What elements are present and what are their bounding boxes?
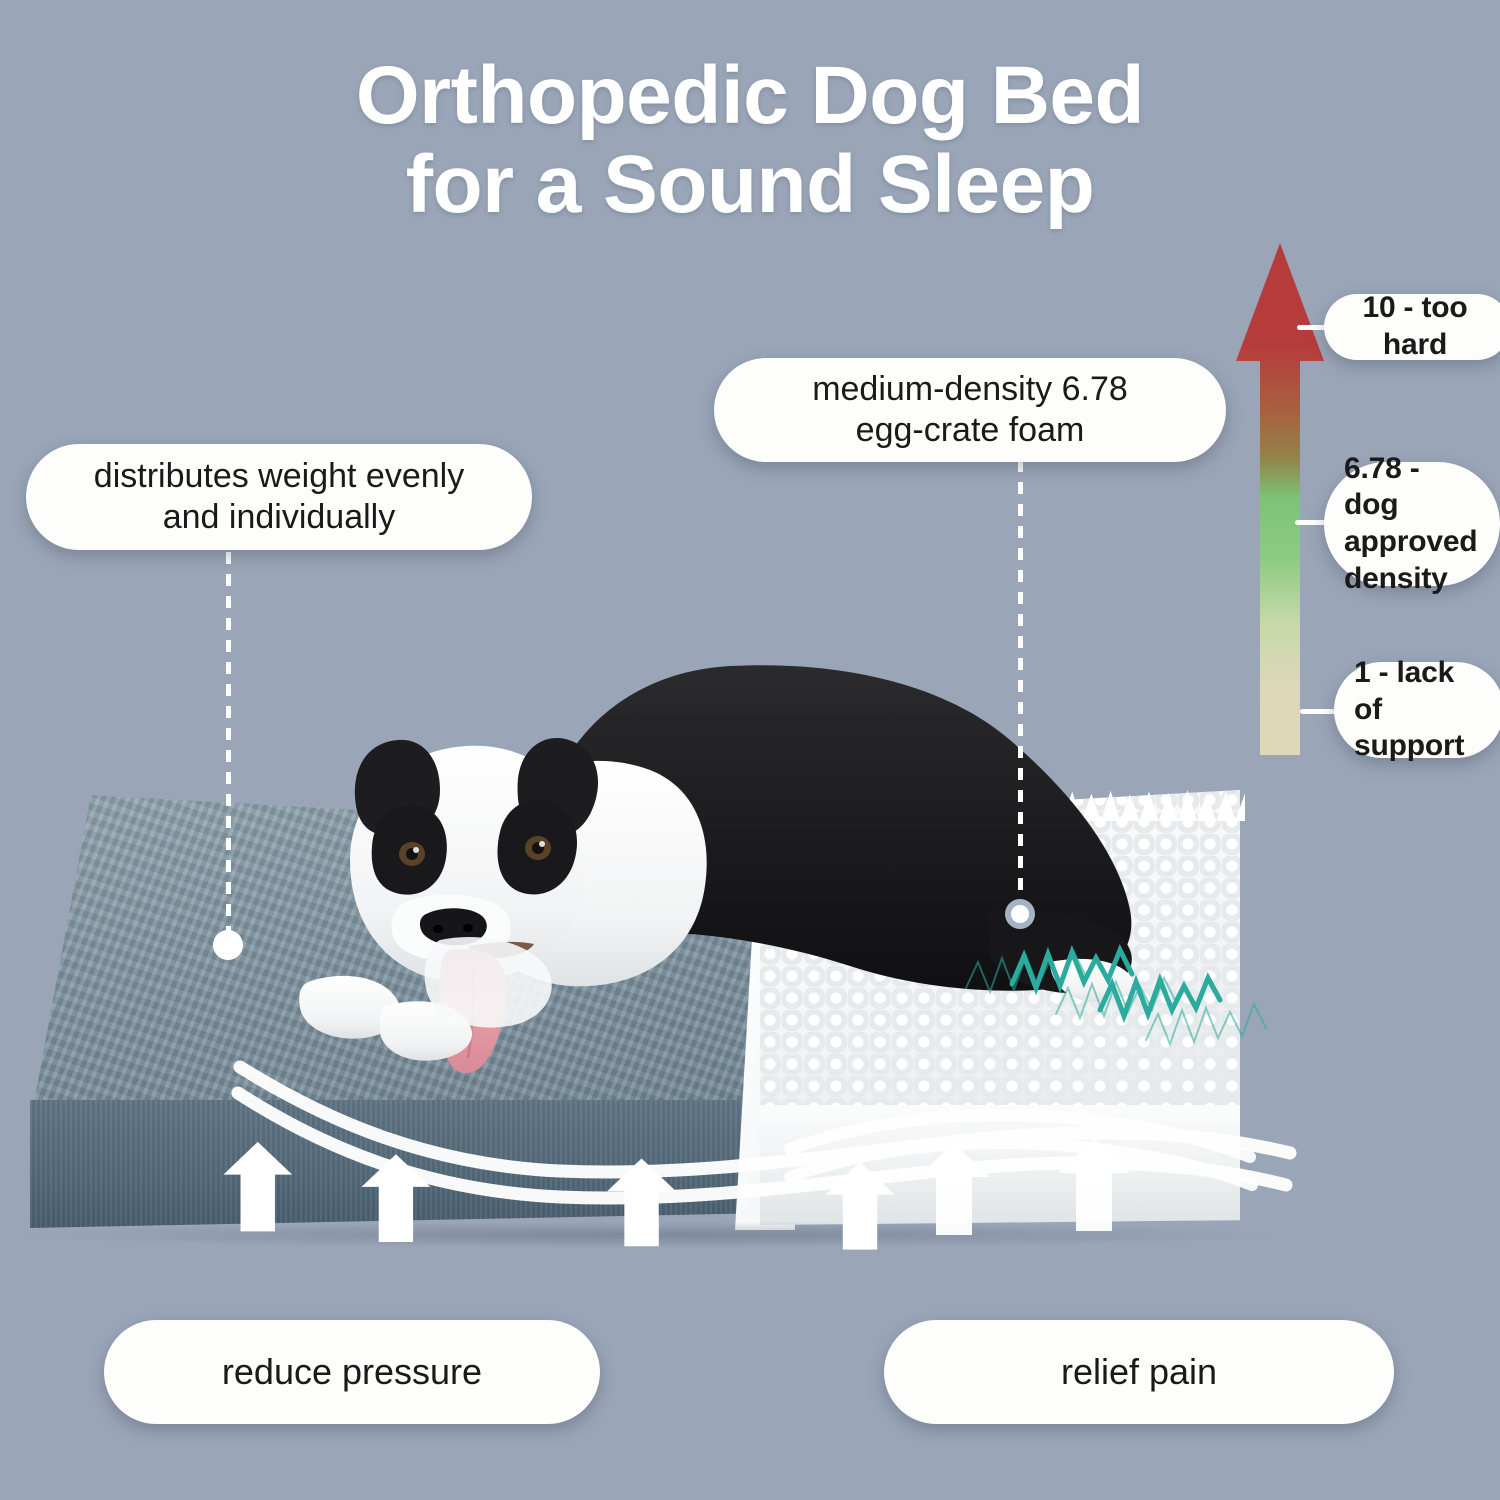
scale-label-too-hard[interactable]: 10 - too hard [1324, 294, 1500, 360]
marker-dot-left [213, 930, 243, 960]
callout-relief-pain[interactable]: relief pain [884, 1320, 1394, 1424]
scale-tick-1 [1300, 709, 1336, 714]
callout-reduce-pressure[interactable]: reduce pressure [104, 1320, 600, 1424]
callout-foam-line1: medium-density 6.78 [812, 370, 1128, 408]
scale-label-lack-of-support[interactable]: 1 - lack of support [1334, 662, 1500, 758]
callout-distributes-line2: and individually [163, 498, 396, 536]
scale-bottom-line2: support [1354, 729, 1464, 762]
callout-reduce-label: reduce pressure [222, 1350, 482, 1394]
callout-distributes-line1: distributes weight evenly [94, 457, 464, 495]
page-title: Orthopedic Dog Bed for a Sound Sleep [0, 52, 1500, 229]
scale-mid-line2: approved [1344, 525, 1477, 558]
scale-label-dog-approved[interactable]: 6.78 - dog approved density [1324, 462, 1500, 586]
connector-line-right [1018, 460, 1023, 912]
connector-line-left [226, 552, 231, 944]
scale-label-top-text: 10 - too hard [1346, 290, 1484, 363]
scale-mid-line1: 6.78 - dog [1344, 452, 1420, 522]
title-line-1: Orthopedic Dog Bed [356, 50, 1144, 141]
callout-egg-crate-foam[interactable]: medium-density 6.78 egg-crate foam [714, 358, 1226, 462]
title-line-2: for a Sound Sleep [0, 141, 1500, 230]
callout-distributes-weight[interactable]: distributes weight evenly and individual… [26, 444, 532, 550]
density-scale-arrow [1232, 243, 1328, 759]
callout-relief-label: relief pain [1061, 1350, 1217, 1394]
marker-dot-right [1005, 899, 1035, 929]
scale-mid-line3: density [1344, 562, 1448, 595]
infographic-canvas: Orthopedic Dog Bed for a Sound Sleep [0, 0, 1500, 1500]
callout-foam-line2: egg-crate foam [856, 411, 1085, 449]
density-gradient-arrow [1236, 243, 1324, 755]
support-flow-graphic [0, 1045, 1500, 1265]
scale-bottom-line1: 1 - lack of [1354, 656, 1454, 726]
